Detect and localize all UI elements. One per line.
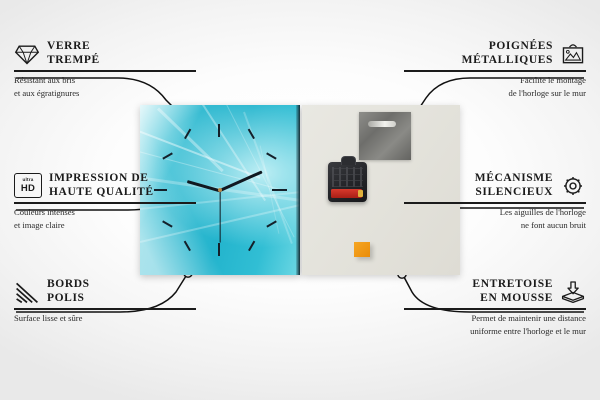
feature-title-line2: POLIS xyxy=(47,292,90,306)
feature-title-line1: POIGNÉES xyxy=(462,40,553,54)
clock-tick xyxy=(266,152,276,159)
feature-subtitle-line1: Permet de maintenir une distance xyxy=(404,313,586,324)
feature-subtitle-line2: et aux égratignures xyxy=(14,88,196,99)
divider xyxy=(404,202,586,204)
feature-title-line1: VERRE xyxy=(47,40,100,54)
feature-mecanisme-silencieux: MÉCANISME SILENCIEUX Les aiguilles de l'… xyxy=(404,172,586,231)
clock-tick xyxy=(272,189,287,191)
quartz-movement xyxy=(328,162,367,202)
feature-title-line2: TREMPÉ xyxy=(47,54,100,68)
feature-subtitle-line2: uniforme entre l'horloge et le mur xyxy=(404,326,586,337)
feature-subtitle-line1: Couleurs intenses xyxy=(14,207,196,218)
movement-texture xyxy=(332,167,363,187)
picture-frame-hook-icon xyxy=(560,42,586,66)
feature-title-line1: BORDS xyxy=(47,278,90,292)
infographic-canvas: VERRE TREMPÉ Résistant aux bris et aux é… xyxy=(0,0,600,400)
divider xyxy=(404,70,586,72)
feature-title-line2: EN MOUSSE xyxy=(472,292,553,306)
feature-title-line2: SILENCIEUX xyxy=(475,186,553,200)
feature-bords-polis: BORDS POLIS Surface lisse et sûre xyxy=(14,278,196,323)
bracket-slot xyxy=(368,121,396,127)
feature-subtitle-line1: Facilite le montage xyxy=(404,75,586,86)
feature-subtitle-line2: ne font aucun bruit xyxy=(404,220,586,231)
divider xyxy=(404,308,586,310)
battery-terminal xyxy=(358,190,363,197)
metal-bracket xyxy=(359,112,411,160)
feature-header: ultra HD IMPRESSION DE HAUTE QUALITÉ xyxy=(14,172,196,199)
clock-second-hand xyxy=(219,191,220,243)
feature-header: POIGNÉES MÉTALLIQUES xyxy=(404,40,586,67)
feature-poignees-metalliques: POIGNÉES MÉTALLIQUES Facilite le montage… xyxy=(404,40,586,99)
divider xyxy=(14,70,196,72)
feature-title-line1: ENTRETOISE xyxy=(472,278,553,292)
feature-title-line2: HAUTE QUALITÉ xyxy=(49,186,154,200)
ultra-hd-icon-large-text: HD xyxy=(21,184,35,194)
clock-tick xyxy=(218,243,220,256)
clock-tick xyxy=(184,241,191,251)
polished-edge-icon xyxy=(14,280,40,304)
feature-entretoise-en-mousse: ENTRETOISE EN MOUSSE Permet de maintenir… xyxy=(404,278,586,337)
feature-subtitle-line2: de l'horloge sur le mur xyxy=(404,88,586,99)
feature-header: VERRE TREMPÉ xyxy=(14,40,196,67)
feature-verre-trempe: VERRE TREMPÉ Résistant aux bris et aux é… xyxy=(14,40,196,99)
arrow-down-pad-icon xyxy=(560,280,586,304)
divider xyxy=(14,308,196,310)
feature-header: ENTRETOISE EN MOUSSE xyxy=(404,278,586,305)
clock-tick xyxy=(218,124,220,137)
ultra-hd-icon: ultra HD xyxy=(14,173,42,198)
feature-title-line1: MÉCANISME xyxy=(475,172,553,186)
feature-header: MÉCANISME SILENCIEUX xyxy=(404,172,586,199)
feature-header: BORDS POLIS xyxy=(14,278,196,305)
diamond-icon xyxy=(14,42,40,66)
clock-tick xyxy=(248,241,255,251)
movement-hanger-tab xyxy=(341,156,356,165)
foam-spacer xyxy=(354,242,370,257)
feature-impression-haute-qualite: ultra HD IMPRESSION DE HAUTE QUALITÉ Cou… xyxy=(14,172,196,231)
clock-center-pin xyxy=(218,188,222,192)
divider xyxy=(14,202,196,204)
gear-icon xyxy=(560,174,586,198)
feature-title-line2: MÉTALLIQUES xyxy=(462,54,553,68)
feature-subtitle-line1: Surface lisse et sûre xyxy=(14,313,196,324)
feature-subtitle-line1: Résistant aux bris xyxy=(14,75,196,86)
feature-subtitle-line2: et image claire xyxy=(14,220,196,231)
ultra-hd-icon-small-text: ultra xyxy=(23,178,34,183)
feature-title-line1: IMPRESSION DE xyxy=(49,172,154,186)
battery xyxy=(331,189,362,198)
feature-subtitle-line1: Les aiguilles de l'horloge xyxy=(404,207,586,218)
